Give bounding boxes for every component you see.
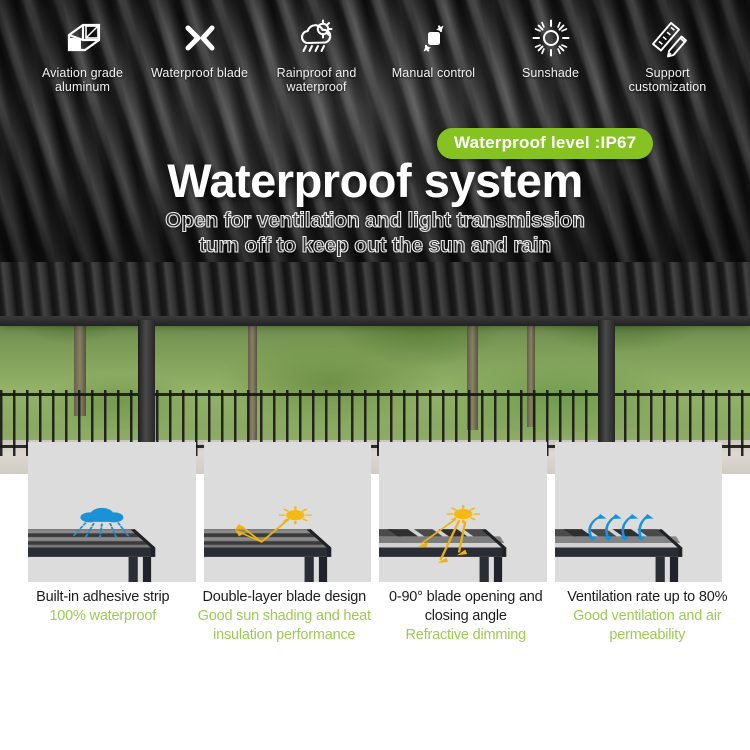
feature-label: Waterproof blade — [151, 66, 248, 80]
caption-subtitle: Refractive dimming — [379, 626, 553, 645]
hero-banner: Aviation grade aluminum Waterproof blade — [0, 0, 750, 262]
feature-support-customization: Support customization — [609, 16, 726, 94]
caption-subtitle: 100% waterproof — [16, 607, 190, 626]
page-subtitle: Open for ventilation and light transmiss… — [0, 208, 750, 258]
sun-reflected-off-blades-diagram — [204, 504, 372, 582]
card-built-in-adhesive-strip[interactable] — [28, 442, 196, 582]
rain-cloud-sun-icon — [294, 16, 340, 60]
diagram-card-row — [0, 442, 750, 582]
feature-sunshade: Sunshade — [492, 16, 609, 80]
feature-label: Sunshade — [522, 66, 579, 80]
subtitle-line-2: turn off to keep out the sun and rain — [0, 233, 750, 258]
caption-title: Double-layer blade design — [198, 588, 372, 607]
subtitle-line-1: Open for ventilation and light transmiss… — [0, 208, 750, 233]
ruler-pencil-icon — [645, 16, 691, 60]
caption-subtitle: Good ventilation and air permeability — [561, 607, 735, 645]
caption-subtitle: Good sun shading and heat insulation per… — [198, 607, 372, 645]
aluminum-extrusion-icon — [60, 16, 106, 60]
card-blade-opening-angle[interactable] — [379, 442, 547, 582]
caption-title: Built-in adhesive strip — [16, 588, 190, 607]
waterproof-blade-icon — [177, 16, 223, 60]
caption-title: Ventilation rate up to 80% — [561, 588, 735, 607]
feature-aviation-grade-aluminum: Aviation grade aluminum — [24, 16, 141, 94]
rain-on-closed-blades-diagram — [28, 504, 196, 582]
caption-row: Built-in adhesive strip 100% waterproof … — [0, 588, 750, 678]
sun-glyph — [279, 507, 310, 524]
feature-rainproof-and-waterproof: Rainproof and waterproof — [258, 16, 375, 94]
pergola-roof-fascia — [0, 316, 750, 326]
card-double-layer-blade-design[interactable] — [204, 442, 372, 582]
manual-rotate-icon — [411, 16, 457, 60]
feature-icon-row: Aviation grade aluminum Waterproof blade — [0, 16, 750, 116]
sun-icon — [528, 16, 574, 60]
page-title: Waterproof system — [0, 155, 750, 207]
sun-through-open-blades-diagram — [379, 504, 547, 582]
card-ventilation-rate[interactable] — [555, 442, 723, 582]
caption-ventilation-rate: Ventilation rate up to 80% Good ventilat… — [557, 588, 739, 678]
feature-label: Aviation grade aluminum — [30, 66, 136, 94]
caption-blade-opening-angle: 0-90° blade opening and closing angle Re… — [375, 588, 557, 678]
caption-built-in-adhesive-strip: Built-in adhesive strip 100% waterproof — [12, 588, 194, 678]
airflow-through-open-blades-diagram — [555, 504, 723, 582]
feature-label: Support customization — [615, 66, 721, 94]
feature-label: Rainproof and waterproof — [264, 66, 370, 94]
fence-rail-top — [0, 393, 750, 396]
feature-label: Manual control — [392, 66, 475, 80]
sun-glyph — [448, 506, 479, 523]
caption-double-layer-blade-design: Double-layer blade design Good sun shadi… — [194, 588, 376, 678]
product-feature-banner: Aviation grade aluminum Waterproof blade — [0, 0, 750, 750]
caption-title: 0-90° blade opening and closing angle — [379, 588, 553, 626]
pergola-roof-underside — [0, 262, 750, 320]
feature-waterproof-blade: Waterproof blade — [141, 16, 258, 80]
feature-manual-control: Manual control — [375, 16, 492, 80]
